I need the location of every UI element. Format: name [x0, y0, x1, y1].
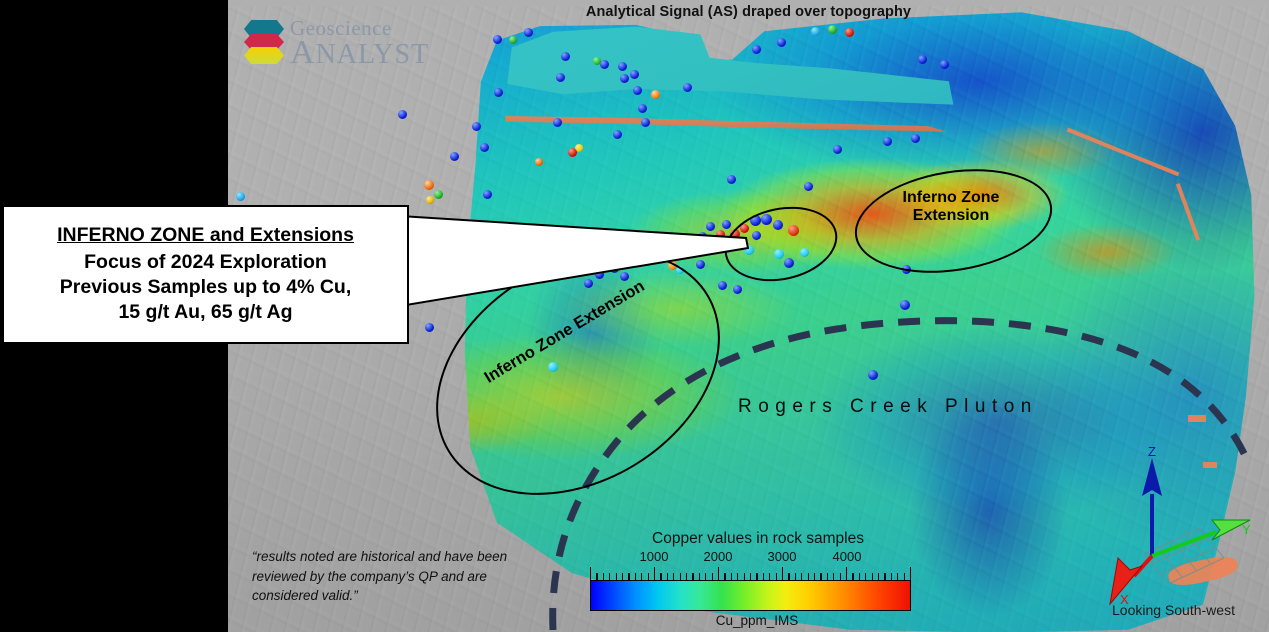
colorbar-tick: [737, 573, 738, 580]
colorbar-tick: [904, 573, 905, 580]
colorbar-tick: [750, 573, 751, 580]
colorbar-tick: [769, 573, 770, 580]
rogers-creek-pluton-label: Rogers Creek Pluton: [738, 396, 1038, 418]
sample-marker[interactable]: [483, 190, 492, 199]
colorbar-tick: [846, 567, 847, 580]
callout-line-2: Focus of 2024 Exploration: [84, 250, 327, 275]
colorbar-tick-labels: 1000 2000 3000 4000: [590, 549, 920, 566]
colorbar-tick: [609, 573, 610, 580]
colorbar-tick: [603, 573, 604, 580]
sample-marker[interactable]: [716, 230, 725, 239]
sample-marker[interactable]: [524, 28, 533, 37]
colorbar-field-name: Cu_ppm_IMS: [594, 613, 920, 628]
colorbar-tick: [808, 573, 809, 580]
colorbar-tick: [814, 573, 815, 580]
colorbar-tick: [801, 573, 802, 580]
colorbar-tick: [891, 573, 892, 580]
logo-layers-icon: [238, 20, 290, 68]
colorbar-tick: [744, 573, 745, 580]
sample-marker[interactable]: [425, 323, 434, 332]
x-axis-arrow: X: [1110, 556, 1152, 606]
colorbar-tick: [865, 573, 866, 580]
sample-marker[interactable]: [613, 130, 622, 139]
terrain-edge-fringe: [423, 263, 449, 278]
colorbar-tick: [667, 573, 668, 580]
colorbar-tick: [590, 567, 591, 580]
y-axis-arrow: Y: [1152, 520, 1251, 556]
sample-marker[interactable]: [845, 28, 854, 37]
sample-marker[interactable]: [833, 145, 842, 154]
sample-marker[interactable]: [398, 110, 407, 119]
label-line-2: Extension: [876, 207, 1026, 225]
slide-canvas: Analytical Signal (AS) draped over topog…: [0, 0, 1269, 632]
colorbar-tick: [833, 573, 834, 580]
colorbar-tick: [788, 573, 789, 580]
sample-marker[interactable]: [535, 158, 543, 166]
sample-marker[interactable]: [918, 55, 927, 64]
view-direction-label: Looking South-west: [1112, 602, 1235, 618]
callout-line-4: 15 g/t Au, 65 g/t Ag: [118, 300, 292, 325]
colorbar-tick: [840, 573, 841, 580]
sample-marker[interactable]: [940, 60, 949, 69]
sample-marker[interactable]: [633, 86, 642, 95]
sample-marker[interactable]: [710, 240, 719, 249]
sample-marker[interactable]: [556, 73, 565, 82]
colorbar-tick: [827, 573, 828, 580]
sample-marker[interactable]: [494, 88, 503, 97]
z-axis-arrow: Z: [1142, 444, 1162, 556]
historical-results-disclaimer: “results noted are historical and have b…: [252, 547, 542, 606]
sample-marker[interactable]: [480, 143, 489, 152]
callout-heading: INFERNO ZONE and Extensions: [57, 223, 354, 248]
sample-marker[interactable]: [900, 300, 910, 310]
sample-marker[interactable]: [426, 196, 434, 204]
sample-marker[interactable]: [236, 192, 245, 201]
colorbar-gradient: [590, 580, 911, 611]
sample-marker[interactable]: [424, 180, 434, 190]
sample-marker[interactable]: [553, 118, 562, 127]
sample-marker[interactable]: [911, 134, 920, 143]
colorbar-title: Copper values in rock samples: [596, 530, 920, 548]
sample-marker[interactable]: [883, 137, 892, 146]
sample-marker[interactable]: [450, 152, 459, 161]
sample-marker[interactable]: [683, 83, 692, 92]
sample-marker[interactable]: [777, 38, 786, 47]
colorbar-tick: [686, 573, 687, 580]
colorbar-tick: [852, 573, 853, 580]
colorbar-tick: [654, 567, 655, 580]
logo-text-analyst: ANALYST: [290, 39, 429, 68]
colorbar-tick: [731, 573, 732, 580]
colorbar-tick-label: 2000: [704, 549, 733, 564]
sample-marker[interactable]: [811, 27, 820, 36]
sample-marker[interactable]: [804, 182, 813, 191]
colorbar-tick: [648, 573, 649, 580]
colorbar-tick-label: 4000: [833, 549, 862, 564]
colorbar-tick: [635, 573, 636, 580]
colorbar-tick: [763, 573, 764, 580]
colorbar-tick: [712, 573, 713, 580]
sample-marker[interactable]: [568, 148, 577, 157]
colorbar-tick: [622, 573, 623, 580]
inferno-zone-callout: INFERNO ZONE and Extensions Focus of 202…: [2, 205, 409, 344]
colorbar-tick: [660, 573, 661, 580]
sample-marker[interactable]: [509, 36, 517, 44]
callout-line-3: Previous Samples up to 4% Cu,: [60, 275, 352, 300]
colorbar-ruler: [590, 567, 911, 580]
logo-analyst-rest: NALYST: [316, 39, 430, 70]
sample-marker[interactable]: [638, 104, 647, 113]
sample-marker[interactable]: [696, 260, 705, 269]
sample-marker[interactable]: [630, 70, 639, 79]
colorbar-tick: [884, 573, 885, 580]
sample-marker[interactable]: [722, 220, 731, 229]
colorbar-tick: [897, 573, 898, 580]
colorbar-tick: [616, 573, 617, 580]
sample-marker[interactable]: [727, 175, 736, 184]
colorbar-tick-label: 1000: [640, 549, 669, 564]
sample-marker[interactable]: [828, 25, 837, 34]
geoscience-analyst-logo: Geoscience ANALYST: [238, 18, 448, 70]
sample-marker[interactable]: [868, 370, 878, 380]
colorbar-tick: [859, 573, 860, 580]
logo-wordmark: Geoscience ANALYST: [290, 18, 429, 68]
terrain-edge-fringe: [1188, 415, 1206, 422]
colorbar-tick: [699, 573, 700, 580]
colorbar-tick: [878, 573, 879, 580]
sample-marker[interactable]: [752, 45, 761, 54]
colorbar-tick: [692, 573, 693, 580]
sample-marker[interactable]: [434, 190, 443, 199]
sample-marker[interactable]: [620, 74, 629, 83]
colorbar-tick: [724, 573, 725, 580]
inferno-zone-extension-label-northeast: Inferno Zone Extension: [876, 189, 1026, 225]
colorbar-tick: [628, 573, 629, 580]
sample-marker[interactable]: [600, 60, 609, 69]
label-line-1: Inferno Zone: [876, 189, 1026, 207]
sample-marker[interactable]: [651, 90, 660, 99]
colorbar-tick: [705, 573, 706, 580]
sample-marker[interactable]: [680, 250, 689, 259]
sample-marker[interactable]: [698, 232, 707, 241]
sample-marker[interactable]: [493, 35, 502, 44]
sample-marker[interactable]: [472, 122, 481, 131]
sample-marker[interactable]: [706, 222, 715, 231]
colorbar-tick: [776, 573, 777, 580]
colorbar-tick: [782, 567, 783, 580]
sample-marker[interactable]: [618, 62, 627, 71]
svg-text:Z: Z: [1148, 444, 1156, 459]
sample-marker[interactable]: [718, 281, 727, 290]
axis-orientation-triad: Z Y X: [1108, 436, 1258, 606]
colorbar-tick: [756, 573, 757, 580]
sample-marker[interactable]: [691, 244, 701, 254]
colorbar-tick-label: 3000: [768, 549, 797, 564]
colorbar-tick: [718, 567, 719, 580]
sample-marker[interactable]: [641, 118, 650, 127]
colorbar-tick: [910, 567, 911, 580]
logo-analyst-capital: A: [290, 34, 316, 71]
colorbar-tick: [680, 573, 681, 580]
colorbar-tick: [673, 573, 674, 580]
sample-marker[interactable]: [561, 52, 570, 61]
colorbar-tick: [820, 573, 821, 580]
terrain-edge-fringe: [406, 246, 436, 258]
colorbar-tick: [795, 573, 796, 580]
colorbar-tick: [872, 573, 873, 580]
sample-marker[interactable]: [733, 285, 742, 294]
svg-text:Y: Y: [1242, 522, 1251, 537]
colorbar-tick: [596, 573, 597, 580]
logo-layer-bottom: [244, 47, 284, 64]
colorbar-tick: [641, 573, 642, 580]
colorbar-legend: Copper values in rock samples 1000 2000 …: [590, 530, 920, 628]
